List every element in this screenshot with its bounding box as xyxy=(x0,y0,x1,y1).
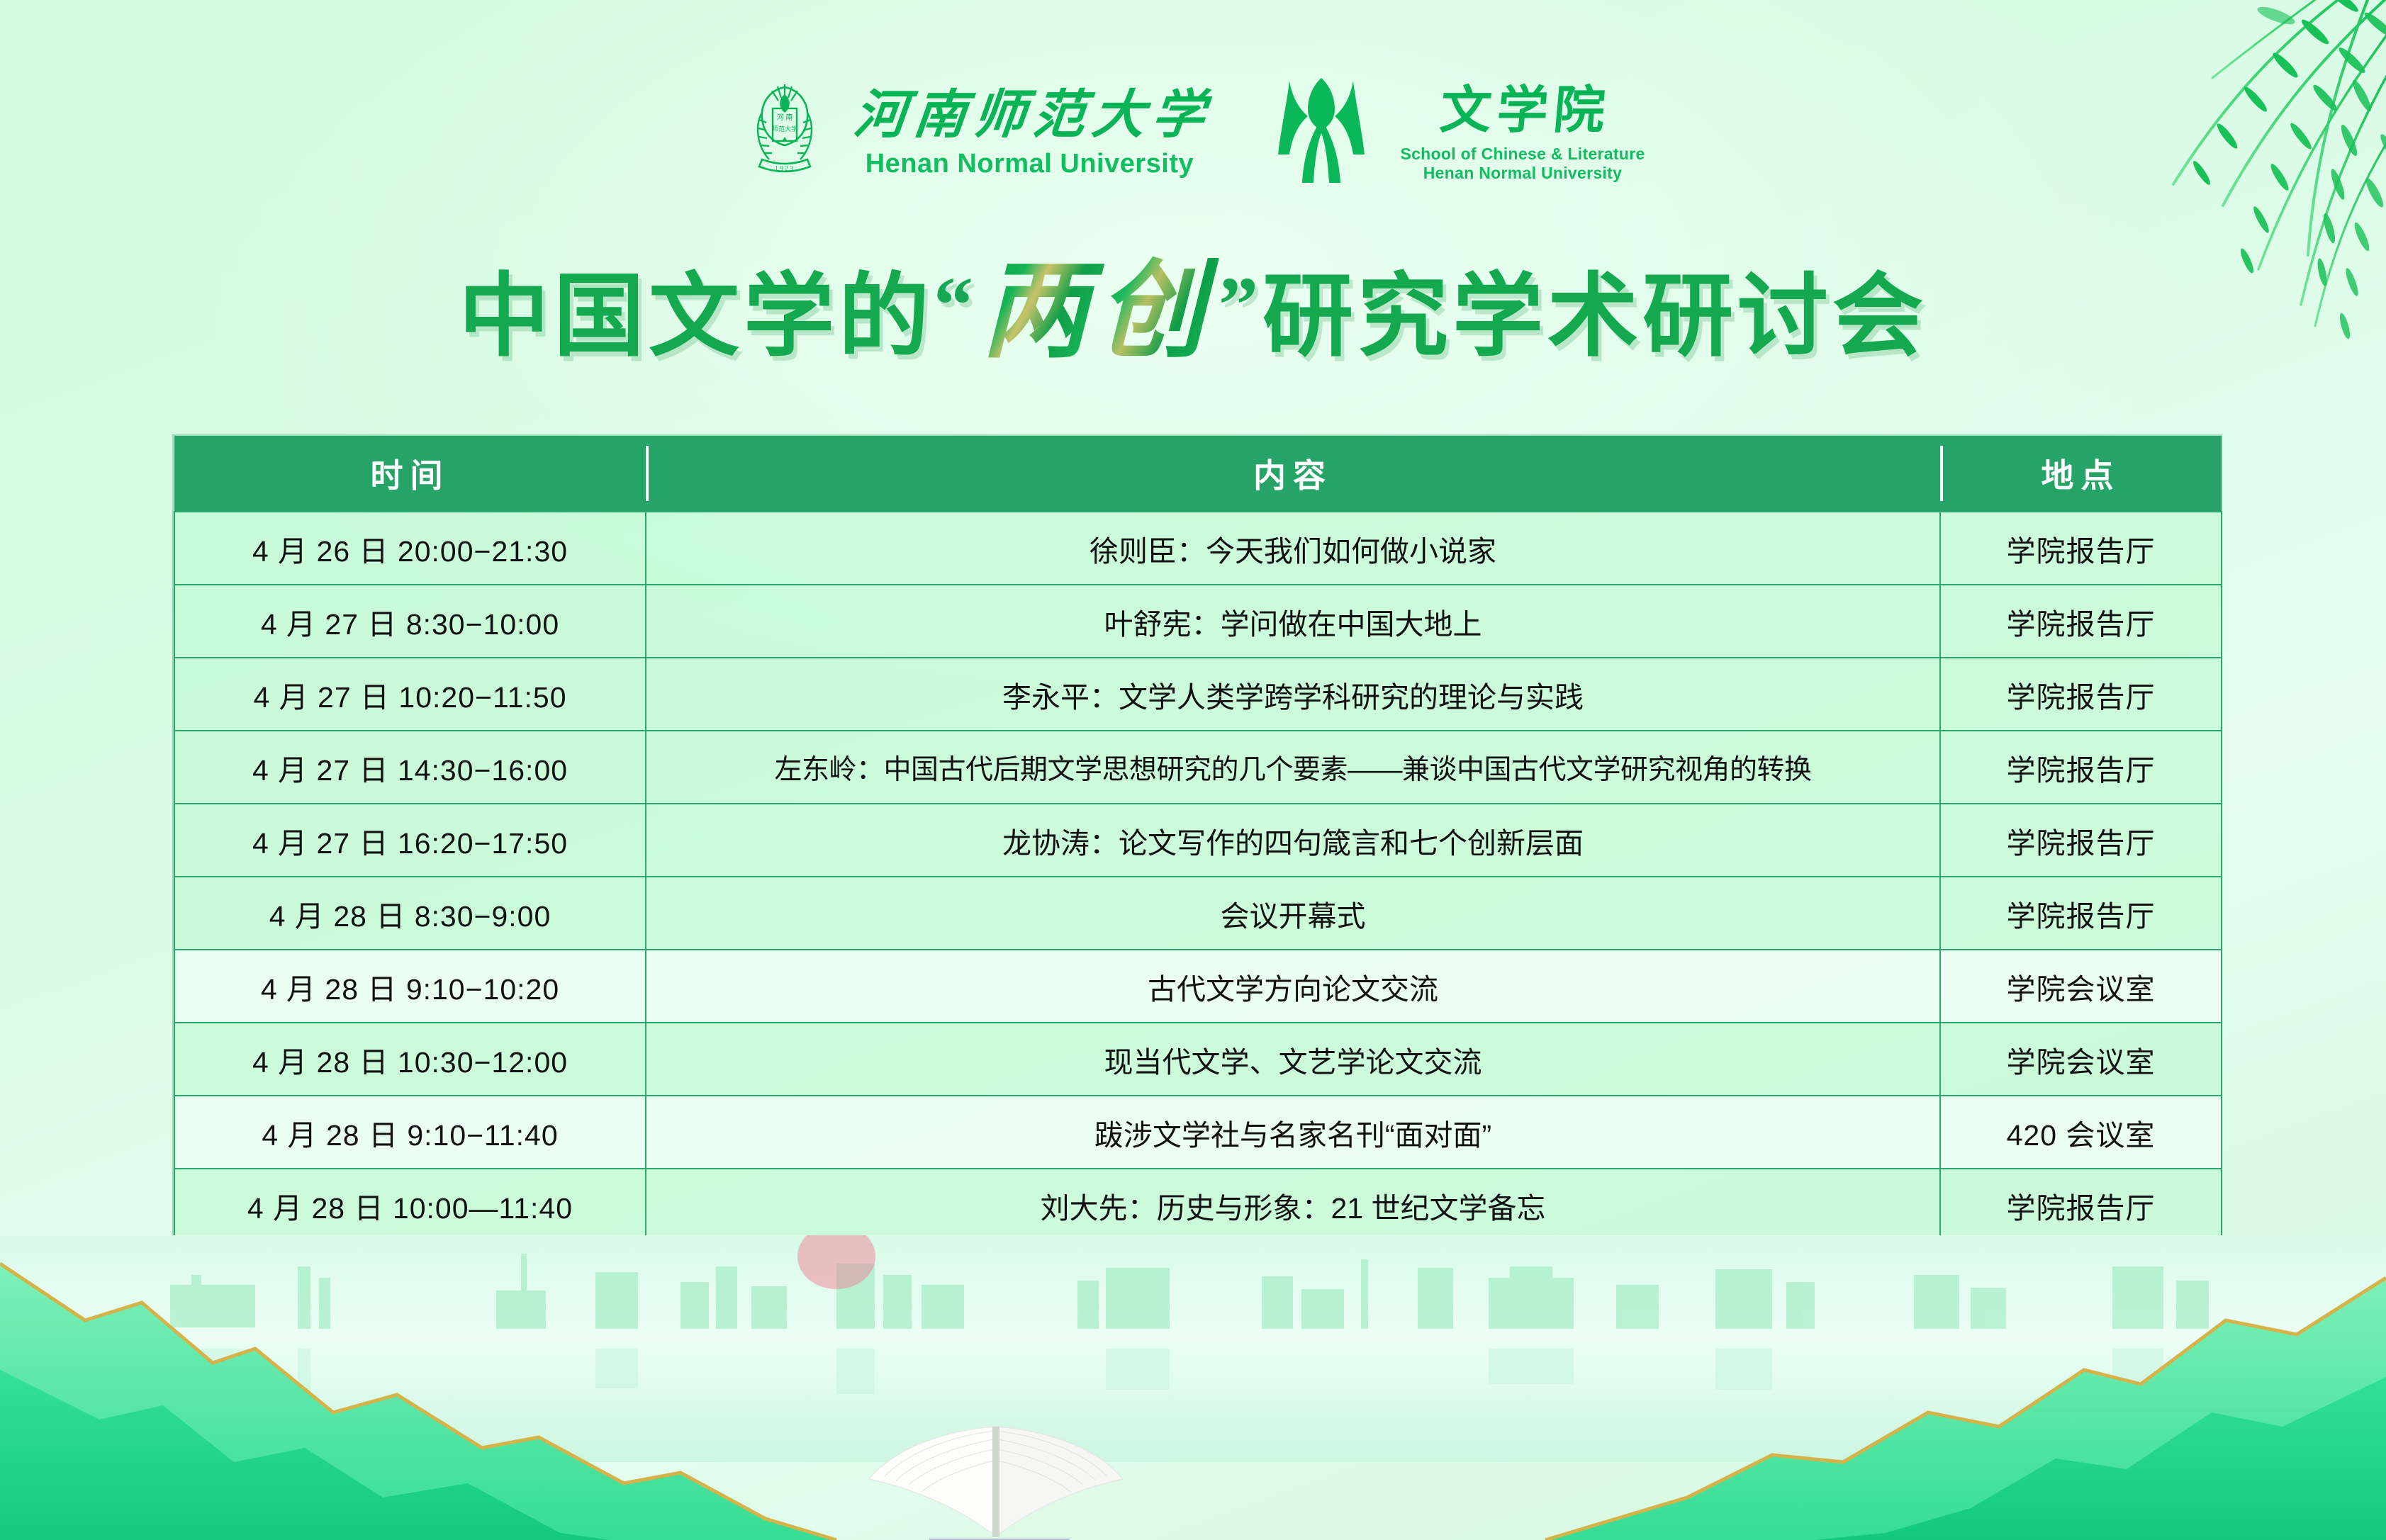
cell-time: 4 月 26 日 20:00−21:30 xyxy=(174,512,646,585)
cell-content: 叶舒宪：学问做在中国大地上 xyxy=(646,585,1940,658)
table-header-row: 时间 内容 地点 xyxy=(174,436,2222,512)
school-emblem-icon xyxy=(1261,77,1382,190)
cell-place: 学院报告厅 xyxy=(1940,512,2222,585)
schedule-table-head: 时间 内容 地点 xyxy=(174,436,2222,512)
table-row: 4 月 28 日 10:30−12:00 现当代文学、文艺学论文交流 学院会议室 xyxy=(174,1023,2222,1096)
table-row: 4 月 28 日 8:30−9:00 会议开幕式 学院报告厅 xyxy=(174,877,2222,950)
cell-time: 4 月 28 日 8:30−9:00 xyxy=(174,877,646,950)
ink-mountain-right-gold xyxy=(1545,1278,2386,1540)
cell-time: 4 月 27 日 14:30−16:00 xyxy=(174,731,646,804)
crest-inner-label: 师范大学 xyxy=(772,125,797,133)
poster-canvas: 河 南 师范大学 1923 河南师范大学 Henan Normal Univer… xyxy=(0,0,2386,1540)
cell-place: 学院报告厅 xyxy=(1940,658,2222,731)
ink-mountain-right-back xyxy=(1815,1377,2386,1540)
blossom-accent xyxy=(797,1235,875,1289)
table-row: 4 月 27 日 14:30−16:00 左东岭：中国古代后期文学思想研究的几个… xyxy=(174,731,2222,804)
open-book-icon xyxy=(844,1405,1148,1540)
cell-time: 4 月 27 日 16:20−17:50 xyxy=(174,804,646,877)
column-header-time: 时间 xyxy=(174,436,646,512)
school-name-en-line1: School of Chinese & Literature xyxy=(1400,146,1645,162)
poster-title: 中国文学的“两创”研究学术研讨会 xyxy=(0,259,2386,365)
schedule-table-body: 4 月 26 日 20:00−21:30 徐则臣：今天我们如何做小说家 学院报告… xyxy=(174,512,2222,1242)
cell-content: 跋涉文学社与名家名刊“面对面” xyxy=(646,1096,1940,1169)
city-skyline-silhouette xyxy=(170,1254,2209,1329)
table-row: 4 月 27 日 10:20−11:50 李永平：文学人类学跨学科研究的理论与实… xyxy=(174,658,2222,731)
title-part-1: 中国文学的 xyxy=(459,266,934,367)
cell-place: 学院报告厅 xyxy=(1940,877,2222,950)
cell-place: 学院报告厅 xyxy=(1940,1169,2222,1242)
ink-mountain-left-back xyxy=(0,1370,610,1540)
title-brush-keyword: 两创 xyxy=(978,253,1219,371)
table-row: 4 月 28 日 10:00—11:40 刘大先：历史与形象：21 世纪文学备忘… xyxy=(174,1169,2222,1242)
cell-place: 学院报告厅 xyxy=(1940,804,2222,877)
ink-mountain-right xyxy=(1545,1278,2386,1540)
cell-content: 现当代文学、文艺学论文交流 xyxy=(646,1023,1940,1096)
university-name-cn: 河南师范大学 xyxy=(845,89,1215,142)
school-logo: 文学院 School of Chinese & Literature Henan… xyxy=(1261,77,1645,190)
cell-place: 学院报告厅 xyxy=(1940,731,2222,804)
svg-text:河 南: 河 南 xyxy=(777,113,793,122)
cell-content: 会议开幕式 xyxy=(646,877,1940,950)
cell-content: 龙协涛：论文写作的四句箴言和七个创新层面 xyxy=(646,804,1940,877)
cell-place: 学院会议室 xyxy=(1940,950,2222,1023)
university-crest-icon: 河 南 师范大学 1923 xyxy=(741,80,829,186)
schedule-table: 时间 内容 地点 4 月 26 日 20:00−21:30 徐则臣：今天我们如何… xyxy=(174,436,2222,1242)
ink-mountain-left-gold xyxy=(0,1264,836,1540)
cell-time: 4 月 28 日 9:10−10:20 xyxy=(174,950,646,1023)
cell-content: 刘大先：历史与形象：21 世纪文学备忘 xyxy=(646,1169,1940,1242)
university-logo: 河 南 师范大学 1923 河南师范大学 Henan Normal Univer… xyxy=(741,80,1211,186)
university-name-en: Henan Normal University xyxy=(866,150,1194,177)
cell-content: 左东岭：中国古代后期文学思想研究的几个要素——兼谈中国古代文学研究视角的转换 xyxy=(646,731,1940,804)
cell-time: 4 月 27 日 10:20−11:50 xyxy=(174,658,646,731)
table-row: 4 月 28 日 9:10−10:20 古代文学方向论文交流 学院会议室 xyxy=(174,950,2222,1023)
ink-mountain-left xyxy=(0,1264,836,1540)
school-name-cn: 文学院 xyxy=(1433,85,1613,136)
table-row: 4 月 27 日 8:30−10:00 叶舒宪：学问做在中国大地上 学院报告厅 xyxy=(174,585,2222,658)
table-row: 4 月 26 日 20:00−21:30 徐则臣：今天我们如何做小说家 学院报告… xyxy=(174,512,2222,585)
cell-time: 4 月 28 日 10:00—11:40 xyxy=(174,1169,646,1242)
cell-time: 4 月 27 日 8:30−10:00 xyxy=(174,585,646,658)
cell-place: 学院会议室 xyxy=(1940,1023,2222,1096)
logo-row: 河 南 师范大学 1923 河南师范大学 Henan Normal Univer… xyxy=(0,77,2386,190)
cell-time: 4 月 28 日 9:10−11:40 xyxy=(174,1096,646,1169)
title-quote-open: “ xyxy=(934,262,978,349)
school-name-en-line2: Henan Normal University xyxy=(1423,165,1622,181)
table-row: 4 月 27 日 16:20−17:50 龙协涛：论文写作的四句箴言和七个创新层… xyxy=(174,804,2222,877)
column-header-content: 内容 xyxy=(646,436,1940,512)
cell-content: 徐则臣：今天我们如何做小说家 xyxy=(646,512,1940,585)
column-header-place: 地点 xyxy=(1940,436,2222,512)
cell-content: 李永平：文学人类学跨学科研究的理论与实践 xyxy=(646,658,1940,731)
cell-place: 学院报告厅 xyxy=(1940,585,2222,658)
table-row: 4 月 28 日 9:10−11:40 跋涉文学社与名家名刊“面对面” 420 … xyxy=(174,1096,2222,1169)
landscape-decoration xyxy=(0,1235,2386,1540)
cell-place: 420 会议室 xyxy=(1940,1096,2222,1169)
title-quote-close: ” xyxy=(1219,262,1262,349)
cell-content: 古代文学方向论文交流 xyxy=(646,950,1940,1023)
crest-year-label: 1923 xyxy=(775,165,795,173)
cell-time: 4 月 28 日 10:30−12:00 xyxy=(174,1023,646,1096)
title-part-2: 研究学术研讨会 xyxy=(1262,266,1927,367)
schedule-table-wrapper: 时间 内容 地点 4 月 26 日 20:00−21:30 徐则臣：今天我们如何… xyxy=(174,436,2221,1242)
skyline-reflection xyxy=(170,1349,2163,1394)
